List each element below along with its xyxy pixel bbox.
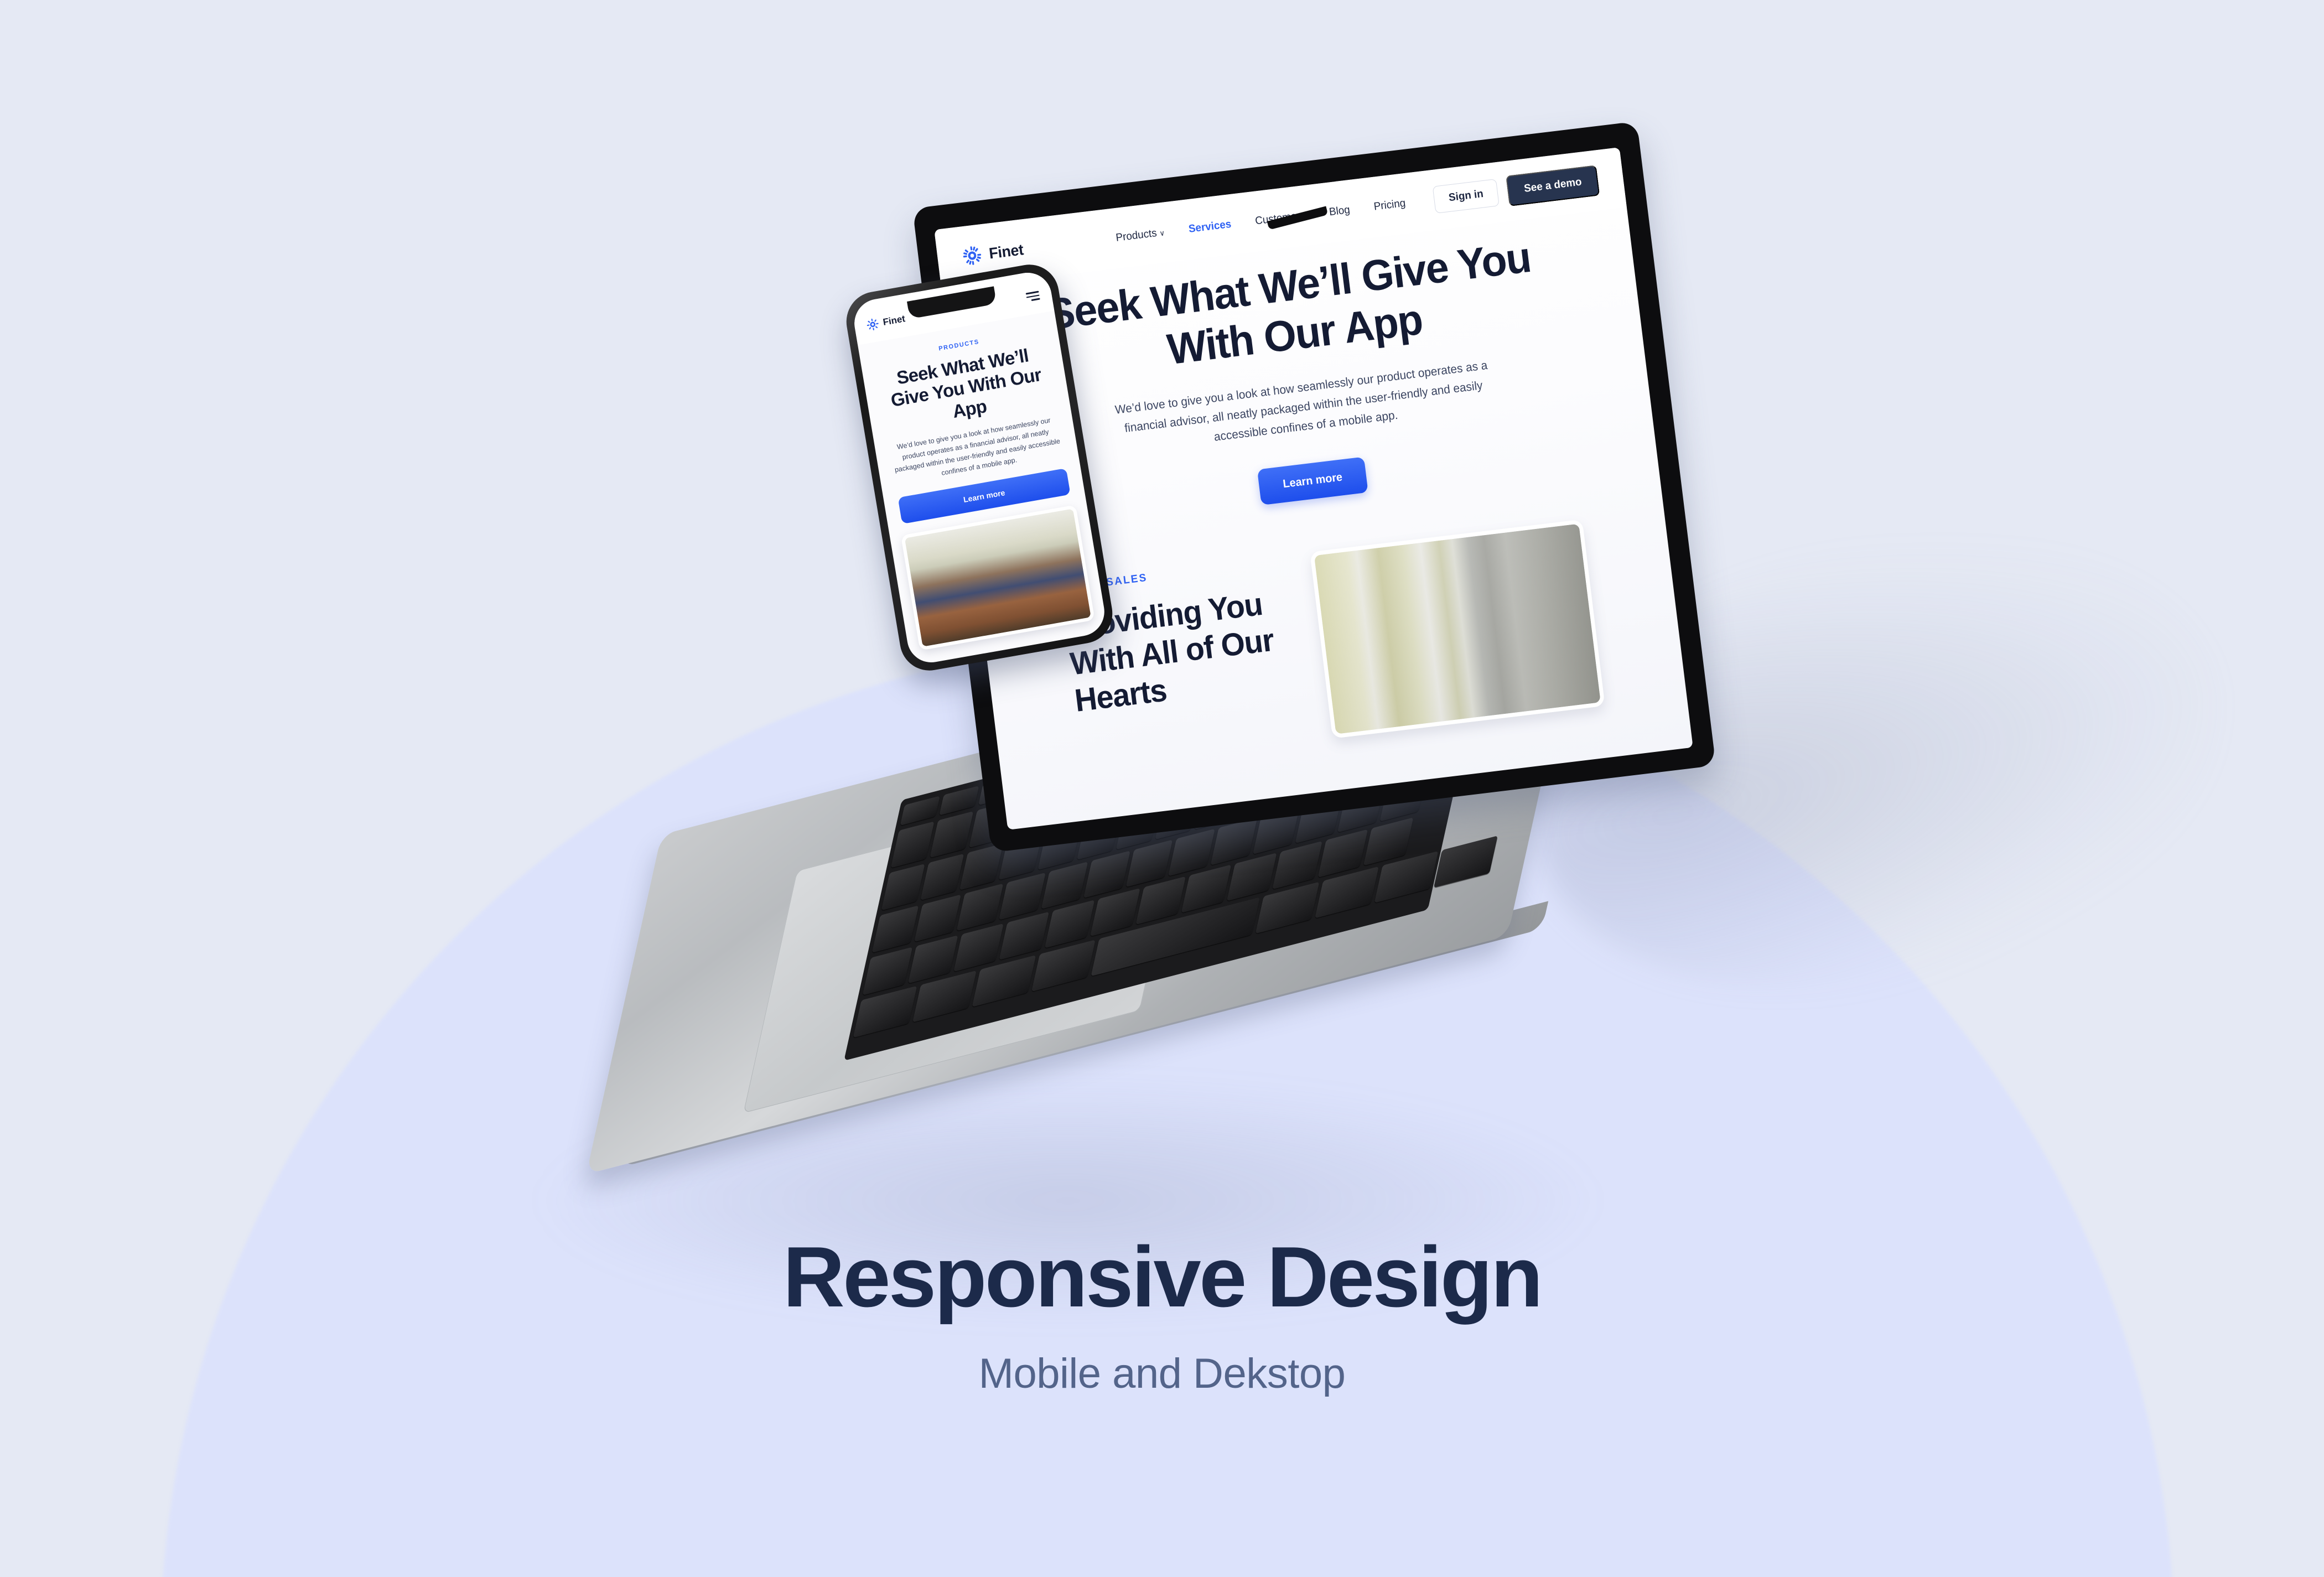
keyboard-key[interactable] [1041,862,1088,909]
nav-link-products-label: Products [1115,227,1157,244]
keyboard-key[interactable] [914,894,961,942]
keyboard-key[interactable] [999,873,1046,920]
caption-block: Responsive Design Mobile and Dekstop [0,1234,2324,1398]
gear-icon [962,245,983,267]
keyboard-key[interactable] [1181,864,1232,912]
keyboard-key[interactable] [891,821,935,868]
keyboard-key[interactable] [959,843,1003,890]
nav-link-blog[interactable]: Blog [1329,204,1351,219]
keyboard-key[interactable] [872,905,919,953]
phone-hero-image [901,505,1095,650]
nav-link-products[interactable]: Products∨ [1115,226,1165,245]
see-a-demo-button[interactable]: See a demo [1506,165,1600,206]
keyboard-key[interactable] [1083,850,1130,898]
keyboard-key[interactable] [1168,829,1215,876]
phone-hero-section: PRODUCTS Seek What We’ll Give You With O… [858,310,1085,526]
hamburger-menu-icon[interactable] [1026,291,1040,302]
keyboard-key[interactable] [1045,900,1095,948]
after-sales-image [1310,519,1605,738]
gear-icon [866,318,880,332]
sign-in-button[interactable]: Sign in [1433,179,1500,214]
keyboard-key[interactable] [1363,817,1414,865]
nav-actions: Sign in See a demo [1432,165,1600,215]
keyboard-key[interactable] [1318,829,1368,878]
page-subtitle: Mobile and Dekstop [0,1350,2324,1398]
keyboard-key[interactable] [908,935,958,983]
keyboard-key[interactable] [863,947,913,995]
nav-links: Products∨ Services Customers Blog Pricin… [1115,197,1406,245]
chevron-down-icon: ∨ [1159,229,1165,237]
phone-brand-logo[interactable]: Finet [866,313,906,331]
keyboard-key[interactable] [953,924,1004,972]
hamburger-line [1031,298,1040,301]
keyboard-key[interactable] [999,912,1050,960]
keyboard-key[interactable] [1126,840,1173,888]
nav-link-pricing[interactable]: Pricing [1373,197,1407,213]
keyboard-key[interactable] [1227,853,1277,901]
brand-name: Finet [988,241,1025,262]
keyboard-key[interactable] [930,811,973,858]
hamburger-line [1026,294,1040,298]
hamburger-line [1026,291,1039,295]
brand-logo[interactable]: Finet [962,240,1025,267]
keyboard-key[interactable] [881,864,925,910]
phone-brand-name: Finet [882,313,906,328]
keyboard-key[interactable] [1090,888,1140,936]
keyboard-key[interactable] [957,884,1004,931]
page-title: Responsive Design [0,1234,2324,1320]
nav-link-services[interactable]: Services [1188,218,1232,236]
keyboard-key[interactable] [1135,876,1186,925]
keyboard-key[interactable] [1272,841,1322,889]
keyboard-key[interactable] [920,854,964,900]
